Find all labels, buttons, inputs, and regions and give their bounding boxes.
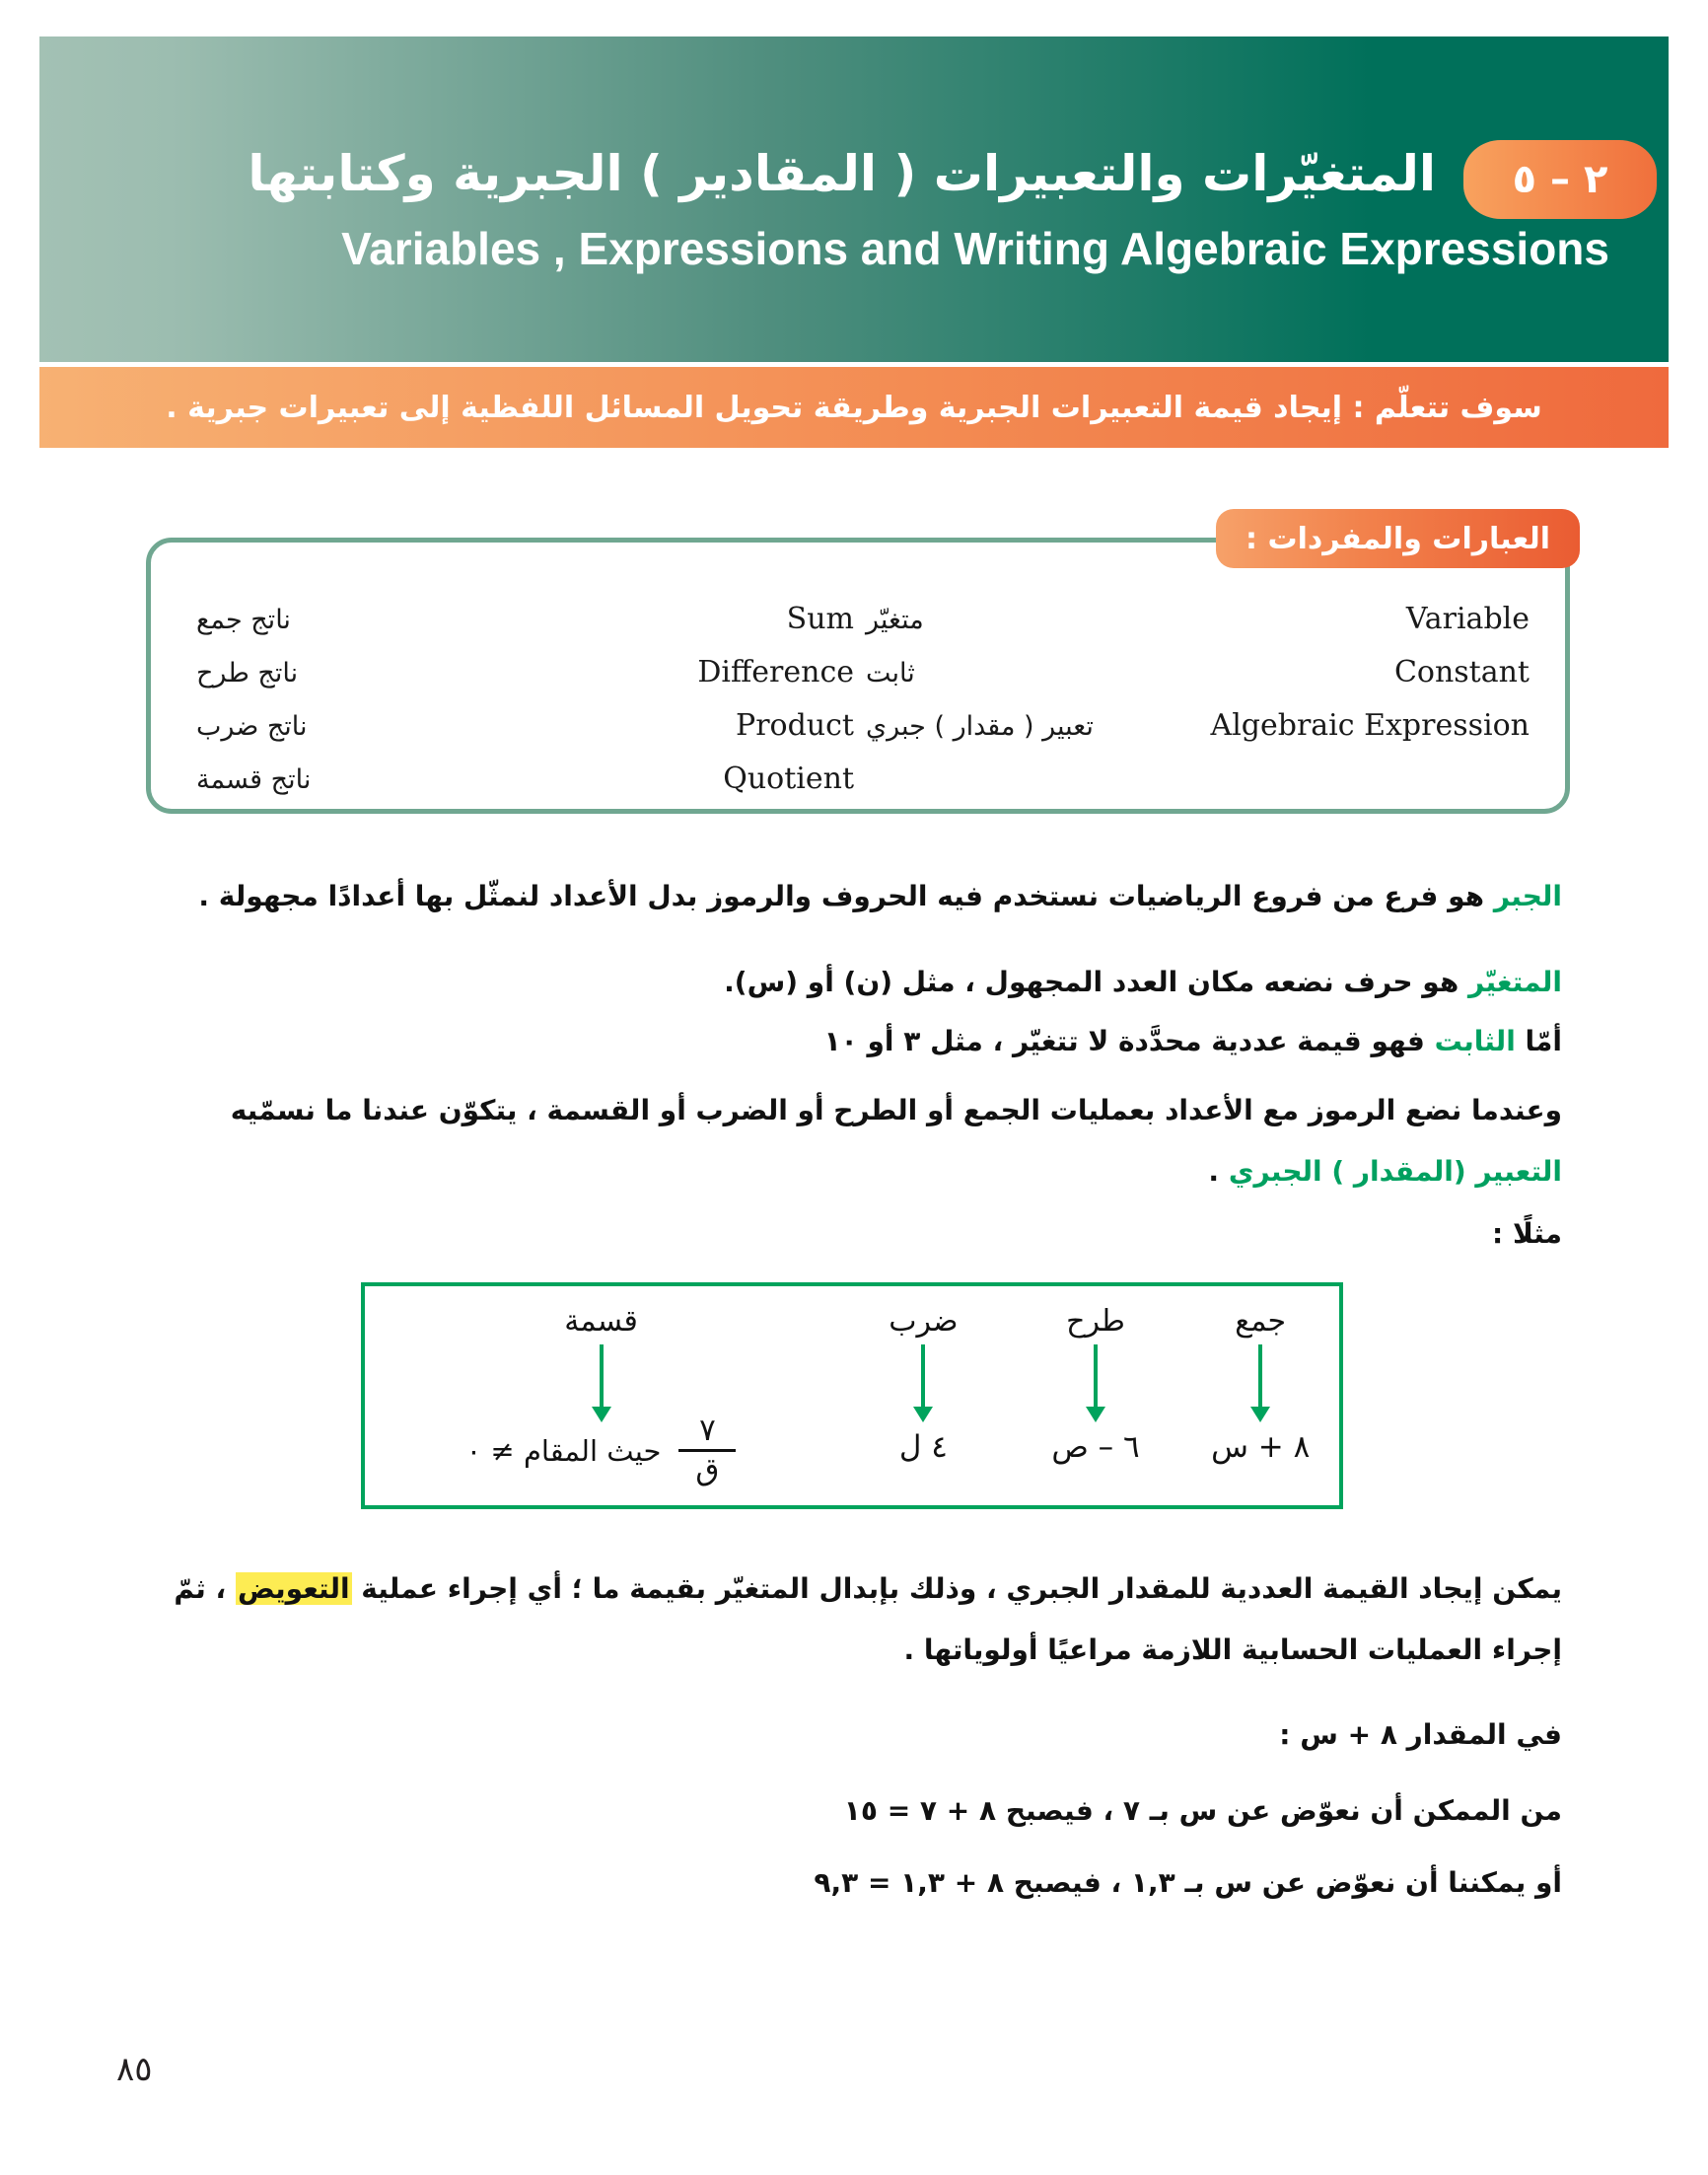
paragraph-constant-pre: أمّا bbox=[1516, 1025, 1562, 1057]
vocabulary-term-arabic: ثابت bbox=[866, 658, 915, 689]
vocabulary-row: Quotient ناتج قسمة bbox=[190, 761, 860, 815]
vocabulary-tab-label: العبارات والمفردات : bbox=[1216, 509, 1580, 568]
vocabulary-term-arabic: ناتج ضرب bbox=[196, 711, 308, 742]
paragraph-constant-rest: فهو قيمة عددية محدَّدة لا تتغيّر ، مثل ٣… bbox=[824, 1025, 1435, 1057]
fraction-seven-over-q: ٧ ق bbox=[678, 1415, 736, 1486]
vocabulary-term-english: Difference bbox=[697, 655, 854, 689]
vocabulary-term-english: Product bbox=[736, 708, 854, 743]
quotient-label-arrow: قسمة bbox=[564, 1304, 638, 1414]
vocabulary-term-arabic: ناتج طرح bbox=[196, 658, 298, 689]
header-inner: المتغيّرات والتعبيرات ( المقادير ) الجبر… bbox=[39, 36, 1669, 362]
paragraph-substitution-example-2: أو يمكننا أن نعوّض عن س بـ ١,٣ ، فيصبح ٨… bbox=[146, 1852, 1562, 1914]
vocabulary-term-arabic: متغيّر bbox=[866, 605, 924, 635]
lesson-header-banner: المتغيّرات والتعبيرات ( المقادير ) الجبر… bbox=[39, 36, 1669, 362]
operation-expression-product: ٤ ل bbox=[899, 1429, 948, 1465]
vocabulary-term-arabic: ناتج جمع bbox=[196, 605, 291, 635]
vocabulary-row: Product ناتج ضرب bbox=[190, 708, 860, 761]
operation-item-difference: طرح ٦ – ص bbox=[1010, 1304, 1182, 1465]
paragraph-variable-definition: المتغيّر هو حرف نضعه مكان العدد المجهول … bbox=[146, 952, 1562, 1013]
paragraph-substitution-line2: إجراء العمليات الحسابية اللازمة مراعيًا … bbox=[146, 1620, 1562, 1681]
learning-objective-bar: سوف تتعلّم : إيجاد قيمة التعبيرات الجبري… bbox=[39, 367, 1669, 448]
operation-label-difference: طرح bbox=[1066, 1304, 1125, 1339]
lesson-title-arabic: المتغيّرات والتعبيرات ( المقادير ) الجبر… bbox=[99, 145, 1436, 202]
paragraph-algebra-definition: الجبر هو فرع من فروع الرياضيات نستخدم في… bbox=[146, 866, 1562, 927]
highlighted-term-substitution: التعويض bbox=[236, 1572, 352, 1605]
vocabulary-term-english: Variable bbox=[1406, 602, 1530, 636]
vocabulary-term-arabic: ناتج قسمة bbox=[196, 764, 311, 795]
page-number: ٨٥ bbox=[116, 2050, 153, 2089]
fraction-denominator: ق bbox=[695, 1452, 719, 1486]
vocabulary-row: Sum ناتج جمع bbox=[190, 602, 860, 655]
operation-expression-sum: ٨ + س bbox=[1211, 1429, 1310, 1465]
operation-label-quotient: قسمة bbox=[564, 1304, 638, 1339]
lesson-title-english: Variables , Expressions and Writing Alge… bbox=[99, 222, 1609, 275]
paragraph-substitution-pre: يمكن إيجاد القيمة العددية للمقدار الجبري… bbox=[352, 1572, 1562, 1605]
vocabulary-row: Variable متغيّر bbox=[860, 602, 1530, 655]
vocabulary-term-arabic: تعبير ( مقدار ) جبري bbox=[866, 711, 1094, 742]
keyword-variable: المتغيّر bbox=[1468, 966, 1562, 998]
down-arrow-icon bbox=[1094, 1344, 1098, 1410]
operation-label-sum: جمع bbox=[1235, 1304, 1286, 1339]
paragraph-expression-line2: التعبير (المقدار ) الجبري . bbox=[146, 1141, 1562, 1202]
down-arrow-icon bbox=[1258, 1344, 1262, 1410]
quotient-condition-note: حيث المقام ≠ ٠ bbox=[466, 1434, 662, 1468]
operation-expression-difference: ٦ – ص bbox=[1051, 1429, 1139, 1465]
paragraph-for-example-label: مثلًا : bbox=[146, 1203, 1562, 1265]
paragraph-substitution: يمكن إيجاد القيمة العددية للمقدار الجبري… bbox=[146, 1559, 1562, 1681]
vocabulary-columns: Sum ناتج جمع Difference ناتج طرح Product… bbox=[190, 602, 1530, 815]
paragraph-substitution-mid: ، ثمّ bbox=[174, 1572, 236, 1605]
vocabulary-term-english: Sum bbox=[787, 602, 854, 636]
keyword-algebra: الجبر bbox=[1494, 880, 1562, 912]
paragraph-expression-line1: وعندما نضع الرموز مع الأعداد بعمليات الج… bbox=[146, 1080, 1562, 1141]
paragraph-constant-definition: أمّا الثابت فهو قيمة عددية محدَّدة لا تت… bbox=[146, 1011, 1562, 1072]
keyword-constant: الثابت bbox=[1435, 1025, 1516, 1057]
lesson-number-badge: ٢ – ٥ bbox=[1463, 140, 1657, 219]
paragraph-expression-intro: في المقدار ٨ + س : bbox=[146, 1704, 1562, 1766]
operation-label-product: ضرب bbox=[889, 1304, 958, 1339]
paragraph-expression-formation: وعندما نضع الرموز مع الأعداد بعمليات الج… bbox=[146, 1080, 1562, 1202]
vocabulary-row: Difference ناتج طرح bbox=[190, 655, 860, 708]
operation-item-quotient: قسمة ٧ ق حيث المقام ≠ ٠ bbox=[365, 1304, 837, 1486]
keyword-algebraic-expression: التعبير (المقدار ) الجبري bbox=[1229, 1155, 1562, 1188]
vocabulary-row: Algebraic Expression تعبير ( مقدار ) جبر… bbox=[860, 708, 1530, 761]
vocabulary-box: Sum ناتج جمع Difference ناتج طرح Product… bbox=[146, 538, 1570, 814]
vocabulary-term-english: Constant bbox=[1394, 655, 1530, 689]
paragraph-substitution-example-1: من الممكن أن نعوّض عن س بـ ٧ ، فيصبح ٨ +… bbox=[146, 1780, 1562, 1842]
fraction-numerator: ٧ bbox=[699, 1415, 716, 1449]
down-arrow-icon bbox=[921, 1344, 925, 1410]
operation-item-sum: جمع ٨ + س bbox=[1181, 1304, 1339, 1465]
paragraph-substitution-line1: يمكن إيجاد القيمة العددية للمقدار الجبري… bbox=[146, 1559, 1562, 1620]
paragraph-expression-period: . bbox=[1208, 1155, 1228, 1188]
quotient-expression-row: ٧ ق حيث المقام ≠ ٠ bbox=[466, 1415, 737, 1486]
vocabulary-term-english: Quotient bbox=[723, 761, 854, 796]
paragraph-variable-rest: هو حرف نضعه مكان العدد المجهول ، مثل (ن)… bbox=[724, 966, 1468, 998]
vocabulary-section: Sum ناتج جمع Difference ناتج طرح Product… bbox=[146, 538, 1570, 814]
operations-list: جمع ٨ + س طرح ٦ – ص ضرب ٤ ل قسمة ٧ ق bbox=[365, 1286, 1339, 1505]
operation-item-product: ضرب ٤ ل bbox=[837, 1304, 1010, 1465]
operations-example-box: جمع ٨ + س طرح ٦ – ص ضرب ٤ ل قسمة ٧ ق bbox=[361, 1282, 1343, 1509]
paragraph-algebra-rest: هو فرع من فروع الرياضيات نستخدم فيه الحر… bbox=[198, 880, 1493, 912]
vocabulary-term-english: Algebraic Expression bbox=[1211, 708, 1530, 743]
vocabulary-row: Constant ثابت bbox=[860, 655, 1530, 708]
vocabulary-column-left: Variable متغيّر Constant ثابت Algebraic … bbox=[860, 602, 1530, 815]
down-arrow-icon bbox=[600, 1344, 604, 1410]
vocabulary-column-right: Sum ناتج جمع Difference ناتج طرح Product… bbox=[190, 602, 860, 815]
